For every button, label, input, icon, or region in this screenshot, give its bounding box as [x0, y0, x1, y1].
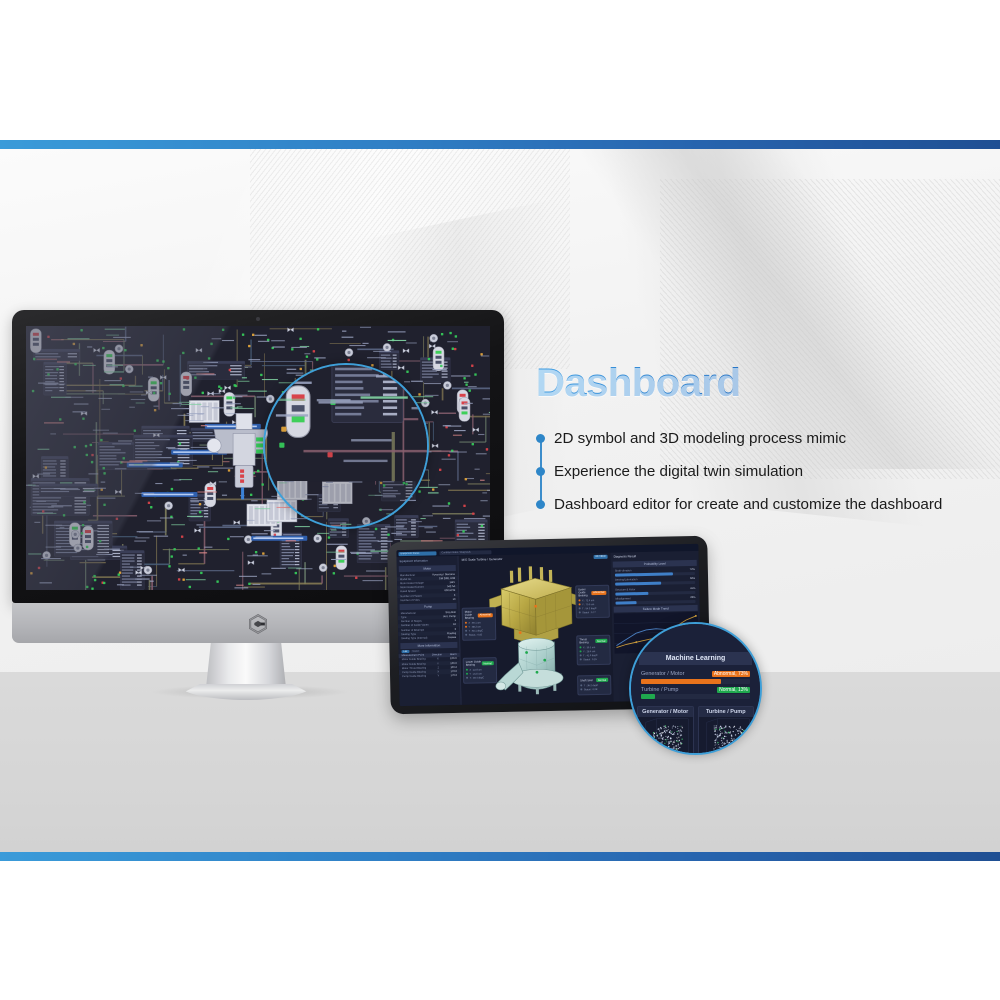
ml-bar-item: Generator / MotorAbnormal, 73%	[631, 671, 760, 687]
monitor-stand-neck	[206, 643, 286, 688]
sidebar-group-pump-title: Pump	[400, 603, 457, 610]
probability-label: Structure & Rotor	[615, 588, 635, 591]
sidebar-row-key: Sealing Type	[401, 633, 416, 636]
sidebar-row-key: Motor Rated Current	[400, 586, 424, 589]
tablet-sidebar[interactable]: Equipment Information Motor Manufacturer…	[397, 556, 462, 706]
measurement-direction: Y	[437, 674, 439, 677]
hotspot-item: T : 36.2 degC	[580, 683, 608, 687]
hotspot-item: Y : 70.5 um	[579, 602, 607, 606]
measurement-point: Motor Guide Bearing	[402, 662, 426, 666]
measurement-direction: Y	[437, 662, 439, 665]
sidebar-row-value: Vert. Pump	[443, 615, 456, 618]
ml-bar-fill	[641, 679, 721, 684]
probability-label: Shaft vibration	[615, 569, 632, 572]
hotspot-status-1: Abnormal	[591, 590, 606, 594]
sidebar-row-value: Grease	[448, 636, 457, 639]
hotspot-item: Y : 88.3 um	[465, 625, 493, 629]
sidebar-row-key: Number of Phases	[400, 594, 422, 597]
measurement-direction: X	[437, 658, 439, 661]
probability-label: Misalignment	[615, 598, 630, 601]
probability-bar-track	[615, 581, 695, 586]
sidebar-row: Number of Poles10	[397, 597, 458, 602]
hotspot-item-label: Y : 28.4 um	[583, 650, 595, 653]
hotspot-item: X : 30.1 um	[579, 645, 607, 649]
desktop-magnifier-lens	[263, 363, 429, 529]
probability-item: Structure & Rotor41%	[611, 586, 699, 595]
sidebar-row-key: Number of Guide Vanes	[401, 624, 429, 628]
sidebar-group-motor-title: Motor	[399, 565, 456, 572]
hotspot-item: Status : 0.77	[579, 610, 607, 614]
hotspot-status-4: Normal	[596, 678, 608, 682]
top-accent-band	[0, 140, 1000, 149]
measurement-alarm: 100.0	[450, 662, 457, 665]
ml-bar-status: Normal, 13%	[717, 687, 750, 693]
sidebar-row-value: 11kV	[449, 581, 455, 584]
hotspot-item: T : 41.0 degC	[580, 653, 608, 657]
hotspot-item: X : 90.1 um	[465, 621, 493, 625]
measurement-point: Pump Guide Bearing	[402, 675, 426, 679]
hotspot-status-0: Abnormal	[478, 613, 493, 617]
sidebar-row-key: Sealing Type (Internal)	[401, 637, 427, 641]
hotspot-title-3: Lower Guide Bearing	[466, 660, 482, 666]
probability-item: Bearing/Lubrication58%	[611, 576, 699, 585]
turbine-generator-3d-model[interactable]	[483, 561, 590, 703]
sidebar-row-value: 10	[453, 598, 456, 601]
hotspot-item-label: Status : 0.15	[583, 658, 596, 661]
hexagon-logo-icon	[248, 614, 268, 634]
sidebar-row-key: Model No.	[400, 578, 412, 581]
sidebar-title: Equipment Information	[397, 556, 458, 564]
sidebar-row-value: Hyosung / Siemens	[432, 573, 455, 576]
probability-item: Misalignment26%	[611, 596, 699, 605]
bottom-accent-band	[0, 852, 1000, 861]
sidebar-row-value: 3	[454, 593, 456, 596]
feature-bullet-3: Dashboard editor for create and customiz…	[554, 495, 986, 514]
ml-bar-label: Turbine / Pump	[641, 687, 678, 693]
sidebar-row-value: SULZER	[445, 611, 455, 614]
hotspot-item-label: Status : 0.77	[582, 611, 595, 614]
hotspot-card-lower-guide-bearing[interactable]: Lower Guide Bearing Normal X : 22.8 um Y…	[463, 657, 498, 683]
sidebar-group-more-title: More Information	[400, 642, 457, 649]
feature-bullet-1: 2D symbol and 3D modeling process mimic	[554, 429, 986, 448]
hotspot-item-label: T : 41.0 degC	[583, 653, 598, 656]
hotspot-item: Status : 0.15	[580, 657, 608, 661]
measurement-alarm: 170.0	[450, 670, 457, 673]
probability-bar-fill	[615, 592, 648, 596]
sidebar-row-value: GM 3891 H98	[439, 577, 455, 580]
ml-bar-item: Turbine / PumpNormal, 13%	[631, 687, 760, 703]
machine-learning-bars: Generator / MotorAbnormal, 73%Turbine / …	[631, 671, 760, 702]
webcam-icon	[256, 317, 260, 321]
ml-bar-label: Generator / Motor	[641, 671, 684, 677]
measurement-direction: Z	[437, 666, 439, 669]
ml-bar-status: Abnormal, 73%	[712, 671, 750, 677]
hotspot-item: Status : 0.08	[580, 687, 608, 691]
hotspot-title-1: Upper Guide Bearing	[578, 588, 591, 597]
probability-label: Bearing/Lubrication	[615, 578, 637, 581]
sidebar-tab-trend[interactable]: Trend	[410, 649, 420, 652]
probability-item: Shaft vibration72%	[611, 567, 699, 576]
tab-condition-index-label: Condition Index / Diagnosis	[441, 550, 470, 554]
hotspot-item-label: T : 54.2 degC	[582, 606, 597, 609]
tab-equipment-status-label: Equipment Status	[400, 551, 419, 554]
hotspot-card-shaft-seal[interactable]: Shaft Seal Normal T : 36.2 degC Status :…	[577, 675, 611, 695]
measurement-alarm: 170.0	[450, 674, 457, 677]
scatter-generator-motor[interactable]: Generator / Motor	[637, 706, 694, 755]
content-stage: Dashboard 2D symbol and 3D modeling proc…	[0, 149, 1000, 852]
page-title: Dashboard	[536, 362, 986, 404]
sidebar-row-key: Number of Bearings	[401, 628, 424, 631]
scatter-plot-row: Generator / Motor Turbine / Pump	[631, 702, 760, 755]
hotspot-item-label: X : 22.8 um	[469, 668, 481, 671]
measurement-column-header: Direction	[432, 653, 442, 656]
view-3d-button[interactable]: 3D VIEW	[593, 554, 607, 558]
hotspot-item-label: Y : 21.6 um	[469, 672, 481, 675]
hotspot-item-label: T : 56.1 degC	[469, 629, 484, 632]
hotspot-card-upper-guide-bearing[interactable]: Upper Guide Bearing Abnormal X : 72.4 um…	[575, 585, 610, 618]
hotspot-item-label: Y : 88.3 um	[468, 625, 480, 628]
sidebar-row-key: Manufacturer	[400, 573, 415, 576]
probability-bar-fill	[615, 572, 673, 576]
scatter-canvas-1	[699, 717, 754, 755]
hotspot-status-3: Normal	[481, 661, 493, 665]
probability-bar-fill	[616, 602, 637, 605]
hotspot-item: T : 54.2 degC	[579, 606, 607, 610]
hotspot-title-0: Motor Guide Bearing	[465, 610, 478, 619]
sidebar-group-motor-rows: ManufacturerHyosung / SiemensModel No.GM…	[397, 572, 459, 603]
tablet-magnifier-lens: Machine Learning Generator / MotorAbnorm…	[629, 622, 762, 755]
hotspot-item-label: T : 36.2 degC	[584, 683, 599, 686]
scatter-canvas-0	[638, 717, 693, 755]
hotspot-item-label: Y : 70.5 um	[582, 603, 594, 606]
hotspot-card-thrust-bearing[interactable]: Thrust Bearing Normal X : 30.1 um Y : 28…	[576, 635, 611, 665]
machine-learning-panel: Machine Learning Generator / MotorAbnorm…	[631, 624, 760, 753]
sidebar-row-value: 542.5A	[447, 585, 455, 588]
probability-value: 72%	[690, 568, 695, 571]
copy-block: Dashboard 2D symbol and 3D modeling proc…	[536, 362, 986, 514]
scatter-title-0: Generator / Motor	[638, 707, 693, 717]
hotspot-status-2: Normal	[595, 639, 607, 643]
sidebar-group-pump-rows: ManufacturerSULZERTypeVert. PumpNumber o…	[398, 610, 460, 641]
sidebar-row-key: Number of Poles	[400, 598, 419, 601]
ml-bar-track	[641, 679, 750, 684]
probability-value: 26%	[690, 596, 695, 599]
measurement-table-row[interactable]: Pump Guide BearingY170.0	[399, 673, 460, 678]
measurement-direction: X	[437, 670, 439, 673]
scatter-turbine-pump[interactable]: Turbine / Pump	[698, 706, 755, 755]
hotspot-item-label: Status : 0.82	[469, 633, 482, 636]
measurement-point: Pump Guide Bearing	[402, 671, 426, 675]
probability-bar-fill	[615, 582, 661, 586]
hotspot-item-label: X : 30.1 um	[583, 646, 595, 649]
measurement-point: Motor Guide Bearing	[402, 658, 426, 662]
hotspot-item: T : 39.4 degC	[466, 676, 494, 680]
sidebar-row: Sealing Type (Internal)Grease	[398, 635, 459, 640]
sidebar-row-key: Rated Speed	[400, 590, 415, 593]
sidebar-row-value: Floating	[447, 632, 456, 635]
probability-value: 41%	[690, 587, 695, 590]
hotspot-item: Y : 28.4 um	[580, 649, 608, 653]
hotspot-item: X : 72.4 um	[578, 598, 606, 602]
probability-bars: Shaft vibration72%Bearing/Lubrication58%…	[611, 567, 700, 605]
sidebar-row-value: 3	[455, 628, 457, 631]
ml-bar-track	[641, 694, 750, 699]
probability-bar-track	[615, 591, 695, 596]
sidebar-row-value: 16	[453, 623, 456, 626]
probability-value: 58%	[690, 577, 695, 580]
hotspot-item-label: Status : 0.08	[584, 688, 597, 691]
hotspot-item-label: T : 39.4 degC	[470, 676, 485, 679]
sidebar-row-value: 600 RPM	[444, 589, 455, 592]
feature-bullet-list: 2D symbol and 3D modeling process mimic …	[536, 429, 986, 514]
scada-mimic-canvas-magnified	[263, 363, 429, 481]
sidebar-row-key: Manufacturer	[401, 612, 416, 615]
tab-equipment-status[interactable]: Equipment Status	[398, 551, 436, 556]
hotspot-item-label: X : 72.4 um	[582, 599, 594, 602]
hotspot-title-4: Shaft Seal	[580, 679, 592, 682]
sidebar-row-value: 1	[454, 619, 456, 622]
probability-bar-track	[615, 572, 695, 577]
hotspot-item: Status : 0.82	[465, 633, 493, 637]
sidebar-tab-list[interactable]: List	[401, 650, 409, 653]
sidebar-row-key: Motor Rated Voltage	[400, 582, 424, 585]
measurement-column-header: Alarm	[450, 653, 457, 656]
feature-bullet-2: Experience the digital twin simulation	[554, 462, 986, 481]
hotspot-item: T : 56.1 degC	[465, 629, 493, 633]
sidebar-row-key: Type	[401, 616, 407, 619]
ml-bar-fill	[641, 694, 655, 699]
scatter-title-1: Turbine / Pump	[699, 707, 754, 717]
hotspot-title-2: Thrust Bearing	[579, 638, 595, 644]
viewport-title: M/G Scale Turbine / Generator	[462, 556, 503, 561]
probability-bar-track	[616, 600, 696, 605]
hotspot-card-motor-guide-bearing[interactable]: Motor Guide Bearing Abnormal X : 90.1 um…	[462, 607, 497, 640]
hotspot-item-label: X : 90.1 um	[468, 621, 480, 624]
desktop-magnifier-content	[263, 363, 429, 492]
diagnosis-panel-title: Diagnosis Result	[610, 551, 698, 560]
sidebar-measurement-table: Measurement PointDirectionAlarmMotor Gui…	[399, 653, 461, 679]
hotspot-item: Y : 21.6 um	[466, 672, 494, 676]
measurement-point: Motor Thrust Bearing	[402, 666, 426, 670]
slide-root: Dashboard 2D symbol and 3D modeling proc…	[0, 0, 1000, 1000]
measurement-alarm: 100.0	[450, 657, 457, 660]
measurement-alarm: 100.2	[450, 666, 457, 669]
tablet-viewport[interactable]: M/G Scale Turbine / Generator 3D VIEW	[459, 553, 614, 705]
hotspot-item: X : 22.8 um	[466, 668, 494, 672]
machine-learning-title: Machine Learning	[639, 652, 752, 665]
